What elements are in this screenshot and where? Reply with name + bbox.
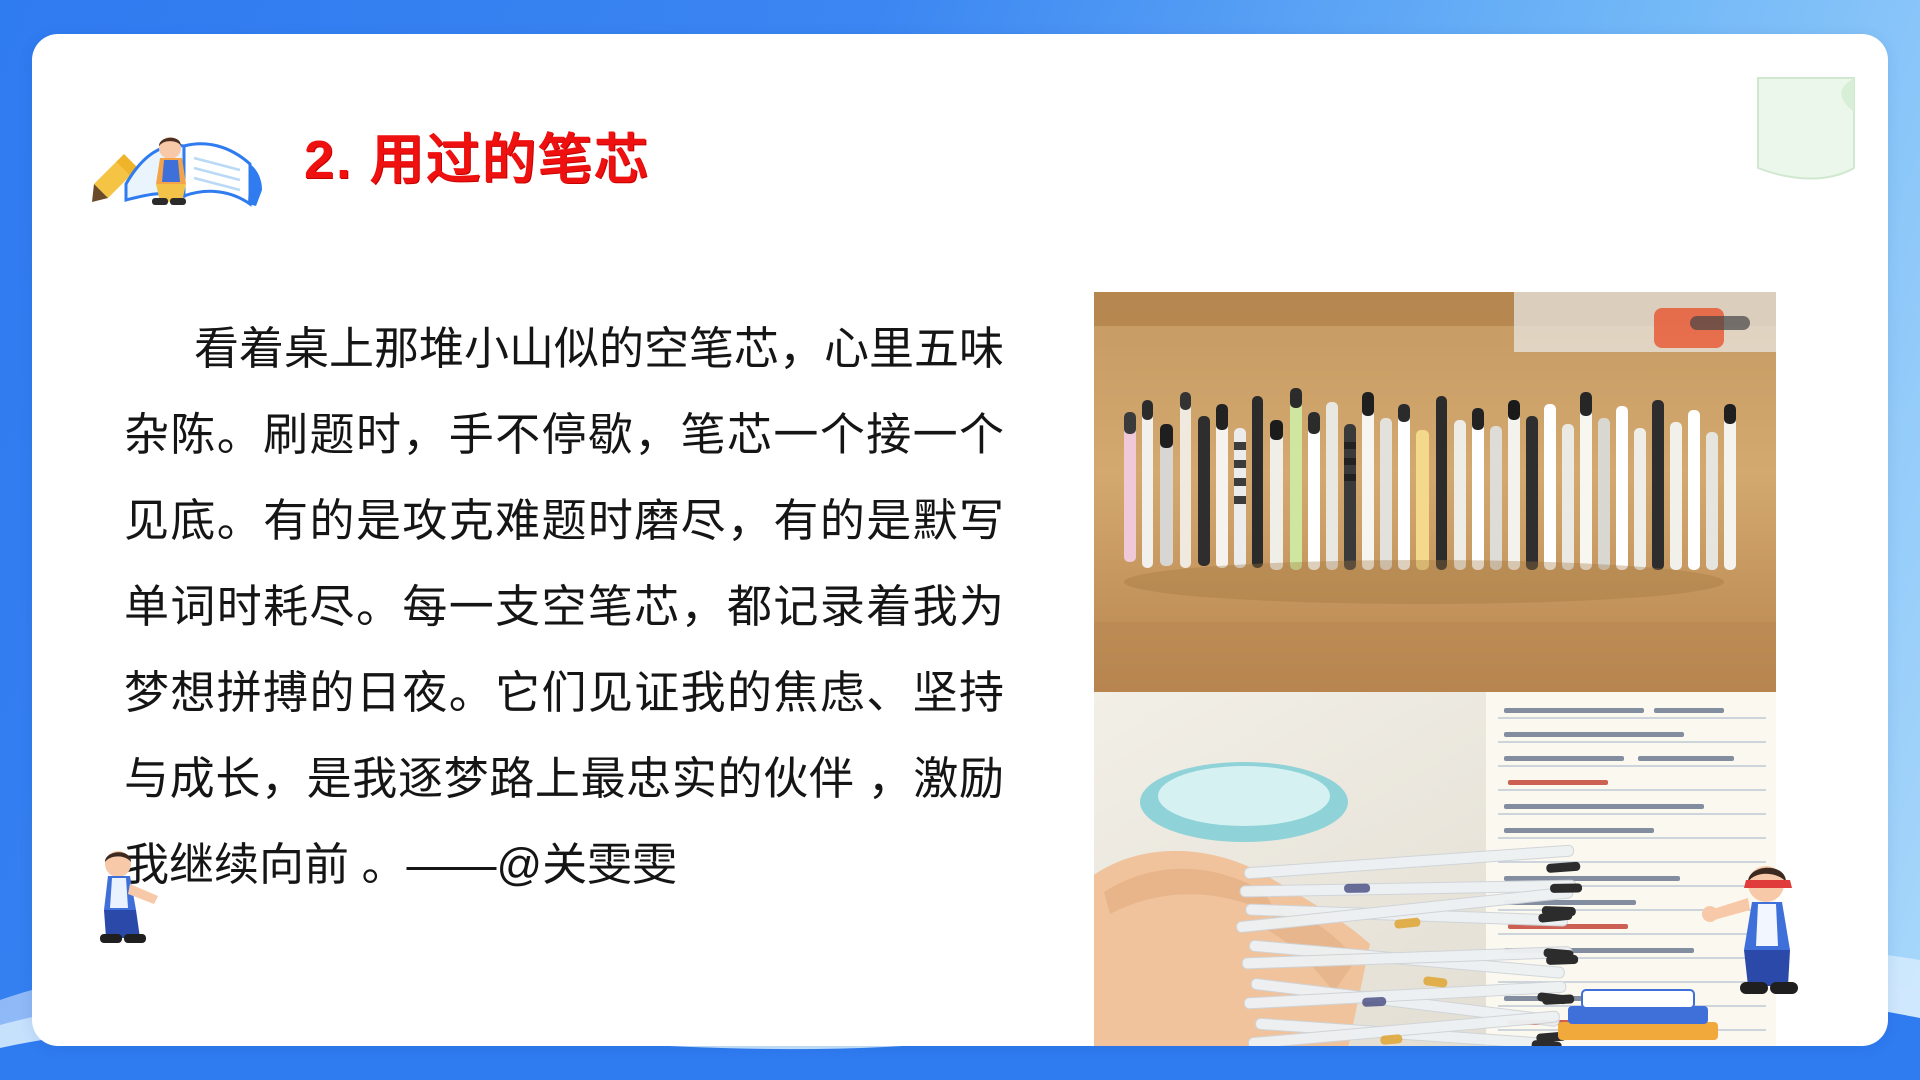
content-card: 2. 用过的笔芯 看着桌上那堆小山似的空笔芯，心里五味杂陈。刷题时，手不停歇，笔… (32, 34, 1888, 1046)
photo-used-pen-refills-on-desk (1094, 292, 1776, 692)
page-title: 2. 用过的笔芯 (304, 133, 650, 187)
folded-paper-icon (1750, 72, 1862, 190)
slide-header: 2. 用过的笔芯 (90, 112, 650, 208)
slide-canvas: 2. 用过的笔芯 看着桌上那堆小山似的空笔芯，心里五味杂陈。刷题时，手不停歇，笔… (0, 0, 1920, 1080)
open-book-icon (90, 112, 280, 208)
body-paragraph: 看着桌上那堆小山似的空笔芯，心里五味杂陈。刷题时，手不停歇，笔芯一个接一个见底。… (124, 306, 1004, 908)
paragraph-text: 看着桌上那堆小山似的空笔芯，心里五味杂陈。刷题时，手不停歇，笔芯一个接一个见底。… (124, 323, 1004, 890)
photo-hand-holding-refills (1094, 692, 1776, 1046)
